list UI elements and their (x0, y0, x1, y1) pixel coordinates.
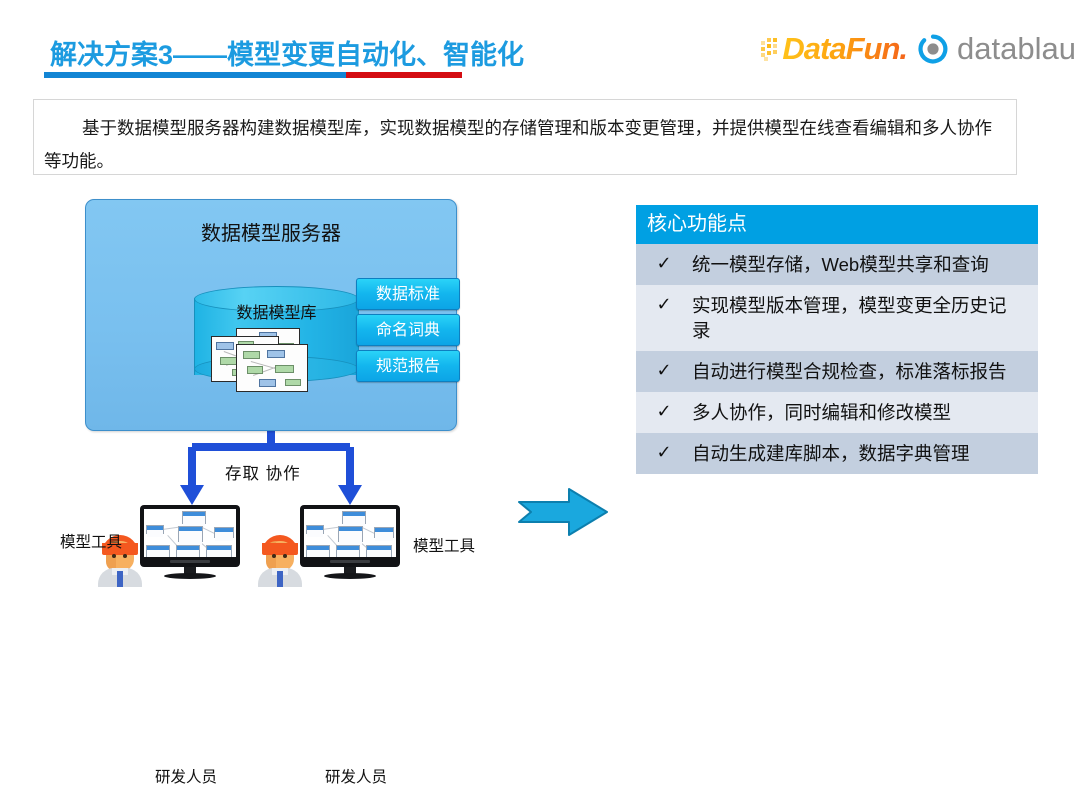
server-box: 数据模型服务器 数据模型库 (85, 199, 457, 431)
summary-text: 基于数据模型服务器构建数据模型库，实现数据模型的存储管理和版本变更管理，并提供模… (44, 112, 1008, 178)
server-title: 数据模型服务器 (86, 217, 456, 246)
title-underline-rule (44, 72, 462, 78)
side-button-naming-dictionary[interactable]: 命名词典 (356, 314, 460, 346)
check-icon: ✓ (636, 433, 692, 462)
side-button-spec-report[interactable]: 规范报告 (356, 350, 460, 382)
core-features-header: 核心功能点 (636, 205, 1038, 244)
feature-row-label: 实现模型版本管理，模型变更全历史记录 (692, 285, 1038, 351)
database-label: 数据模型库 (194, 299, 359, 323)
label-model-tool-left: 模型工具 (60, 530, 122, 552)
access-collaboration-label: 存取 协作 (225, 460, 301, 484)
feature-row-label: 多人协作，同时编辑和修改模型 (692, 392, 1038, 433)
feature-row[interactable]: ✓自动进行模型合规检查，标准落标报告 (636, 351, 1038, 392)
title-rule-blue-segment (44, 72, 346, 78)
database-cylinder: 数据模型库 (194, 286, 359, 388)
feature-row-label: 统一模型存储，Web模型共享和查询 (692, 244, 1038, 285)
feature-row[interactable]: ✓多人协作，同时编辑和修改模型 (636, 392, 1038, 433)
check-icon: ✓ (636, 285, 692, 314)
model-diagram-card (236, 344, 308, 392)
monitor-icon (140, 505, 240, 579)
datablau-circle-icon (918, 34, 948, 64)
avatar-eye-right (123, 554, 127, 558)
avatar-eye-left (272, 554, 276, 558)
datablau-logo: datablau (918, 26, 1076, 72)
title-rule-red-segment (346, 72, 462, 78)
core-features-list: ✓统一模型存储，Web模型共享和查询✓实现模型版本管理，模型变更全历史记录✓自动… (636, 244, 1038, 474)
label-developer-left: 研发人员 (155, 765, 217, 787)
feature-row[interactable]: ✓自动生成建库脚本，数据字典管理 (636, 433, 1038, 474)
slide-header: 解决方案3——模型变更自动化、智能化 DataFun. (0, 0, 1080, 88)
summary-box: 基于数据模型服务器构建数据模型库，实现数据模型的存储管理和版本变更管理，并提供模… (33, 99, 1017, 175)
monitor-screen (304, 509, 396, 557)
workstation-right (300, 505, 400, 579)
architecture-diagram: 数据模型服务器 数据模型库 (0, 185, 640, 608)
workstation-left (140, 505, 240, 579)
check-icon: ✓ (636, 392, 692, 421)
datafun-logo: DataFun. (761, 26, 907, 72)
flow-right-arrow-icon (517, 486, 609, 538)
avatar-tie (117, 571, 123, 587)
datafun-dot-matrix-icon (761, 38, 781, 60)
monitor-brand-strip (170, 560, 210, 563)
feature-row[interactable]: ✓实现模型版本管理，模型变更全历史记录 (636, 285, 1038, 351)
avatar-tie (277, 571, 283, 587)
core-features-panel: 核心功能点 ✓统一模型存储，Web模型共享和查询✓实现模型版本管理，模型变更全历… (636, 205, 1038, 474)
datablau-wordmark: datablau (957, 32, 1076, 66)
side-button-data-standard[interactable]: 数据标准 (356, 278, 460, 310)
monitor-base (324, 573, 376, 579)
datafun-wordmark: DataFun. (782, 32, 907, 66)
feature-row-label: 自动生成建库脚本，数据字典管理 (692, 433, 1038, 474)
label-model-tool-right: 模型工具 (413, 534, 475, 556)
monitor-brand-strip (330, 560, 370, 563)
developer-avatar (258, 535, 302, 587)
check-icon: ✓ (636, 244, 692, 273)
feature-row-label: 自动进行模型合规检查，标准落标报告 (692, 351, 1038, 392)
check-icon: ✓ (636, 351, 692, 380)
monitor-icon (300, 505, 400, 579)
monitor-base (164, 573, 216, 579)
monitor-screen (144, 509, 236, 557)
label-developer-right: 研发人员 (325, 765, 387, 787)
logo-group: DataFun. datablau (761, 26, 1076, 72)
avatar-fringe (262, 543, 298, 555)
page-title: 解决方案3——模型变更自动化、智能化 (50, 33, 524, 72)
avatar-eye-left (112, 554, 116, 558)
avatar-eye-right (283, 554, 287, 558)
feature-row[interactable]: ✓统一模型存储，Web模型共享和查询 (636, 244, 1038, 285)
